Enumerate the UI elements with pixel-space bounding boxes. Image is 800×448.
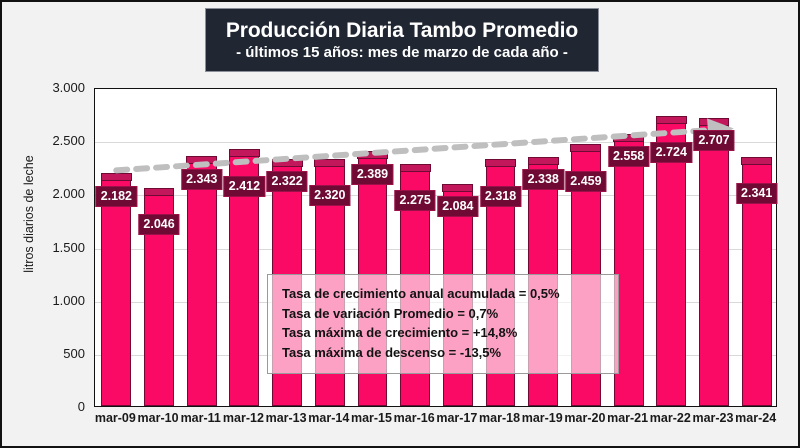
bar-cap [186,156,217,164]
bar-value-label: 2.724 [651,142,692,163]
bar-value-label: 2.343 [181,169,222,190]
bar-value-label: 2.338 [523,169,564,190]
stats-annotation-box: Tasa de crecimiento anual acumulada = 0,… [267,274,619,374]
bar-value-label: 2.275 [395,190,436,211]
stat-line-1: Tasa de crecimiento anual acumulada = 0,… [282,284,606,304]
x-tick-label: mar-24 [735,411,776,425]
bar[interactable] [699,118,729,406]
bar-value-label: 2.046 [138,214,179,235]
bar-value-label: 2.318 [480,186,521,207]
chart-container: Producción Diaria Tambo Promedio - últim… [0,0,800,448]
bar-value-label: 2.558 [608,146,649,167]
bar-cap [144,188,175,196]
bar-cap [101,173,132,181]
y-tick-label: 2.500 [15,133,85,148]
bar-cap [570,144,601,152]
y-tick-label: 1.000 [15,293,85,308]
x-tick-label: mar-12 [223,411,264,425]
x-tick-label: mar-11 [181,411,221,425]
stat-line-4: Tasa máxima de descenso = -13,5% [282,343,606,363]
y-tick-label: 3.000 [15,80,85,95]
bar-cap [400,164,431,172]
bar-cap [613,134,644,142]
bar-value-label: 2.182 [96,186,137,207]
page-title: Producción Diaria Tambo Promedio [226,18,578,43]
x-tick-label: mar-16 [394,411,435,425]
y-tick-label: 0 [15,399,85,414]
bar-cap [314,159,345,167]
x-tick-label: mar-10 [138,411,179,425]
y-tick-label: 2.000 [15,186,85,201]
x-axis-tick-labels: mar-09mar-10mar-11mar-12mar-13mar-14mar-… [94,411,777,433]
bar-value-label: 2.389 [352,164,393,185]
x-tick-label: mar-21 [607,411,648,425]
bar[interactable] [101,174,131,406]
bar-cap [528,157,559,165]
bar[interactable] [187,157,217,406]
bar-cap [485,159,516,167]
bar-cap [741,157,772,165]
bar-value-label: 2.412 [224,176,265,197]
bar-cap [699,118,730,126]
bar-cap [442,184,473,192]
bar-value-label: 2.322 [266,171,307,192]
bar-value-label: 2.320 [309,185,350,206]
bar-value-label: 2.459 [565,171,606,192]
x-tick-label: mar-13 [266,411,307,425]
x-tick-label: mar-15 [351,411,392,425]
x-tick-label: mar-19 [522,411,563,425]
chart-title-block: Producción Diaria Tambo Promedio - últim… [205,8,599,72]
x-tick-label: mar-20 [564,411,605,425]
stat-line-2: Tasa de variación Promedio = 0,7% [282,304,606,324]
stat-line-3: Tasa máxima de crecimiento = +14,8% [282,323,606,343]
bar-cap [272,159,303,167]
x-tick-label: mar-22 [650,411,691,425]
x-tick-label: mar-09 [95,411,136,425]
x-tick-label: mar-14 [308,411,349,425]
bar-cap [357,151,388,159]
plot-area: 2.1822.0462.3432.4122.3222.3202.3892.275… [94,88,777,407]
x-tick-label: mar-18 [479,411,520,425]
bar-cap [229,149,260,157]
bar-value-label: 2.084 [437,196,478,217]
chart-subtitle: - últimos 15 años: mes de marzo de cada … [236,43,568,63]
x-tick-label: mar-17 [436,411,477,425]
bar-value-label: 2.707 [693,130,734,151]
bar-cap [656,116,687,124]
bar-value-label: 2.341 [736,183,777,204]
y-tick-label: 1.500 [15,240,85,255]
y-tick-label: 500 [15,346,85,361]
x-tick-label: mar-23 [692,411,733,425]
